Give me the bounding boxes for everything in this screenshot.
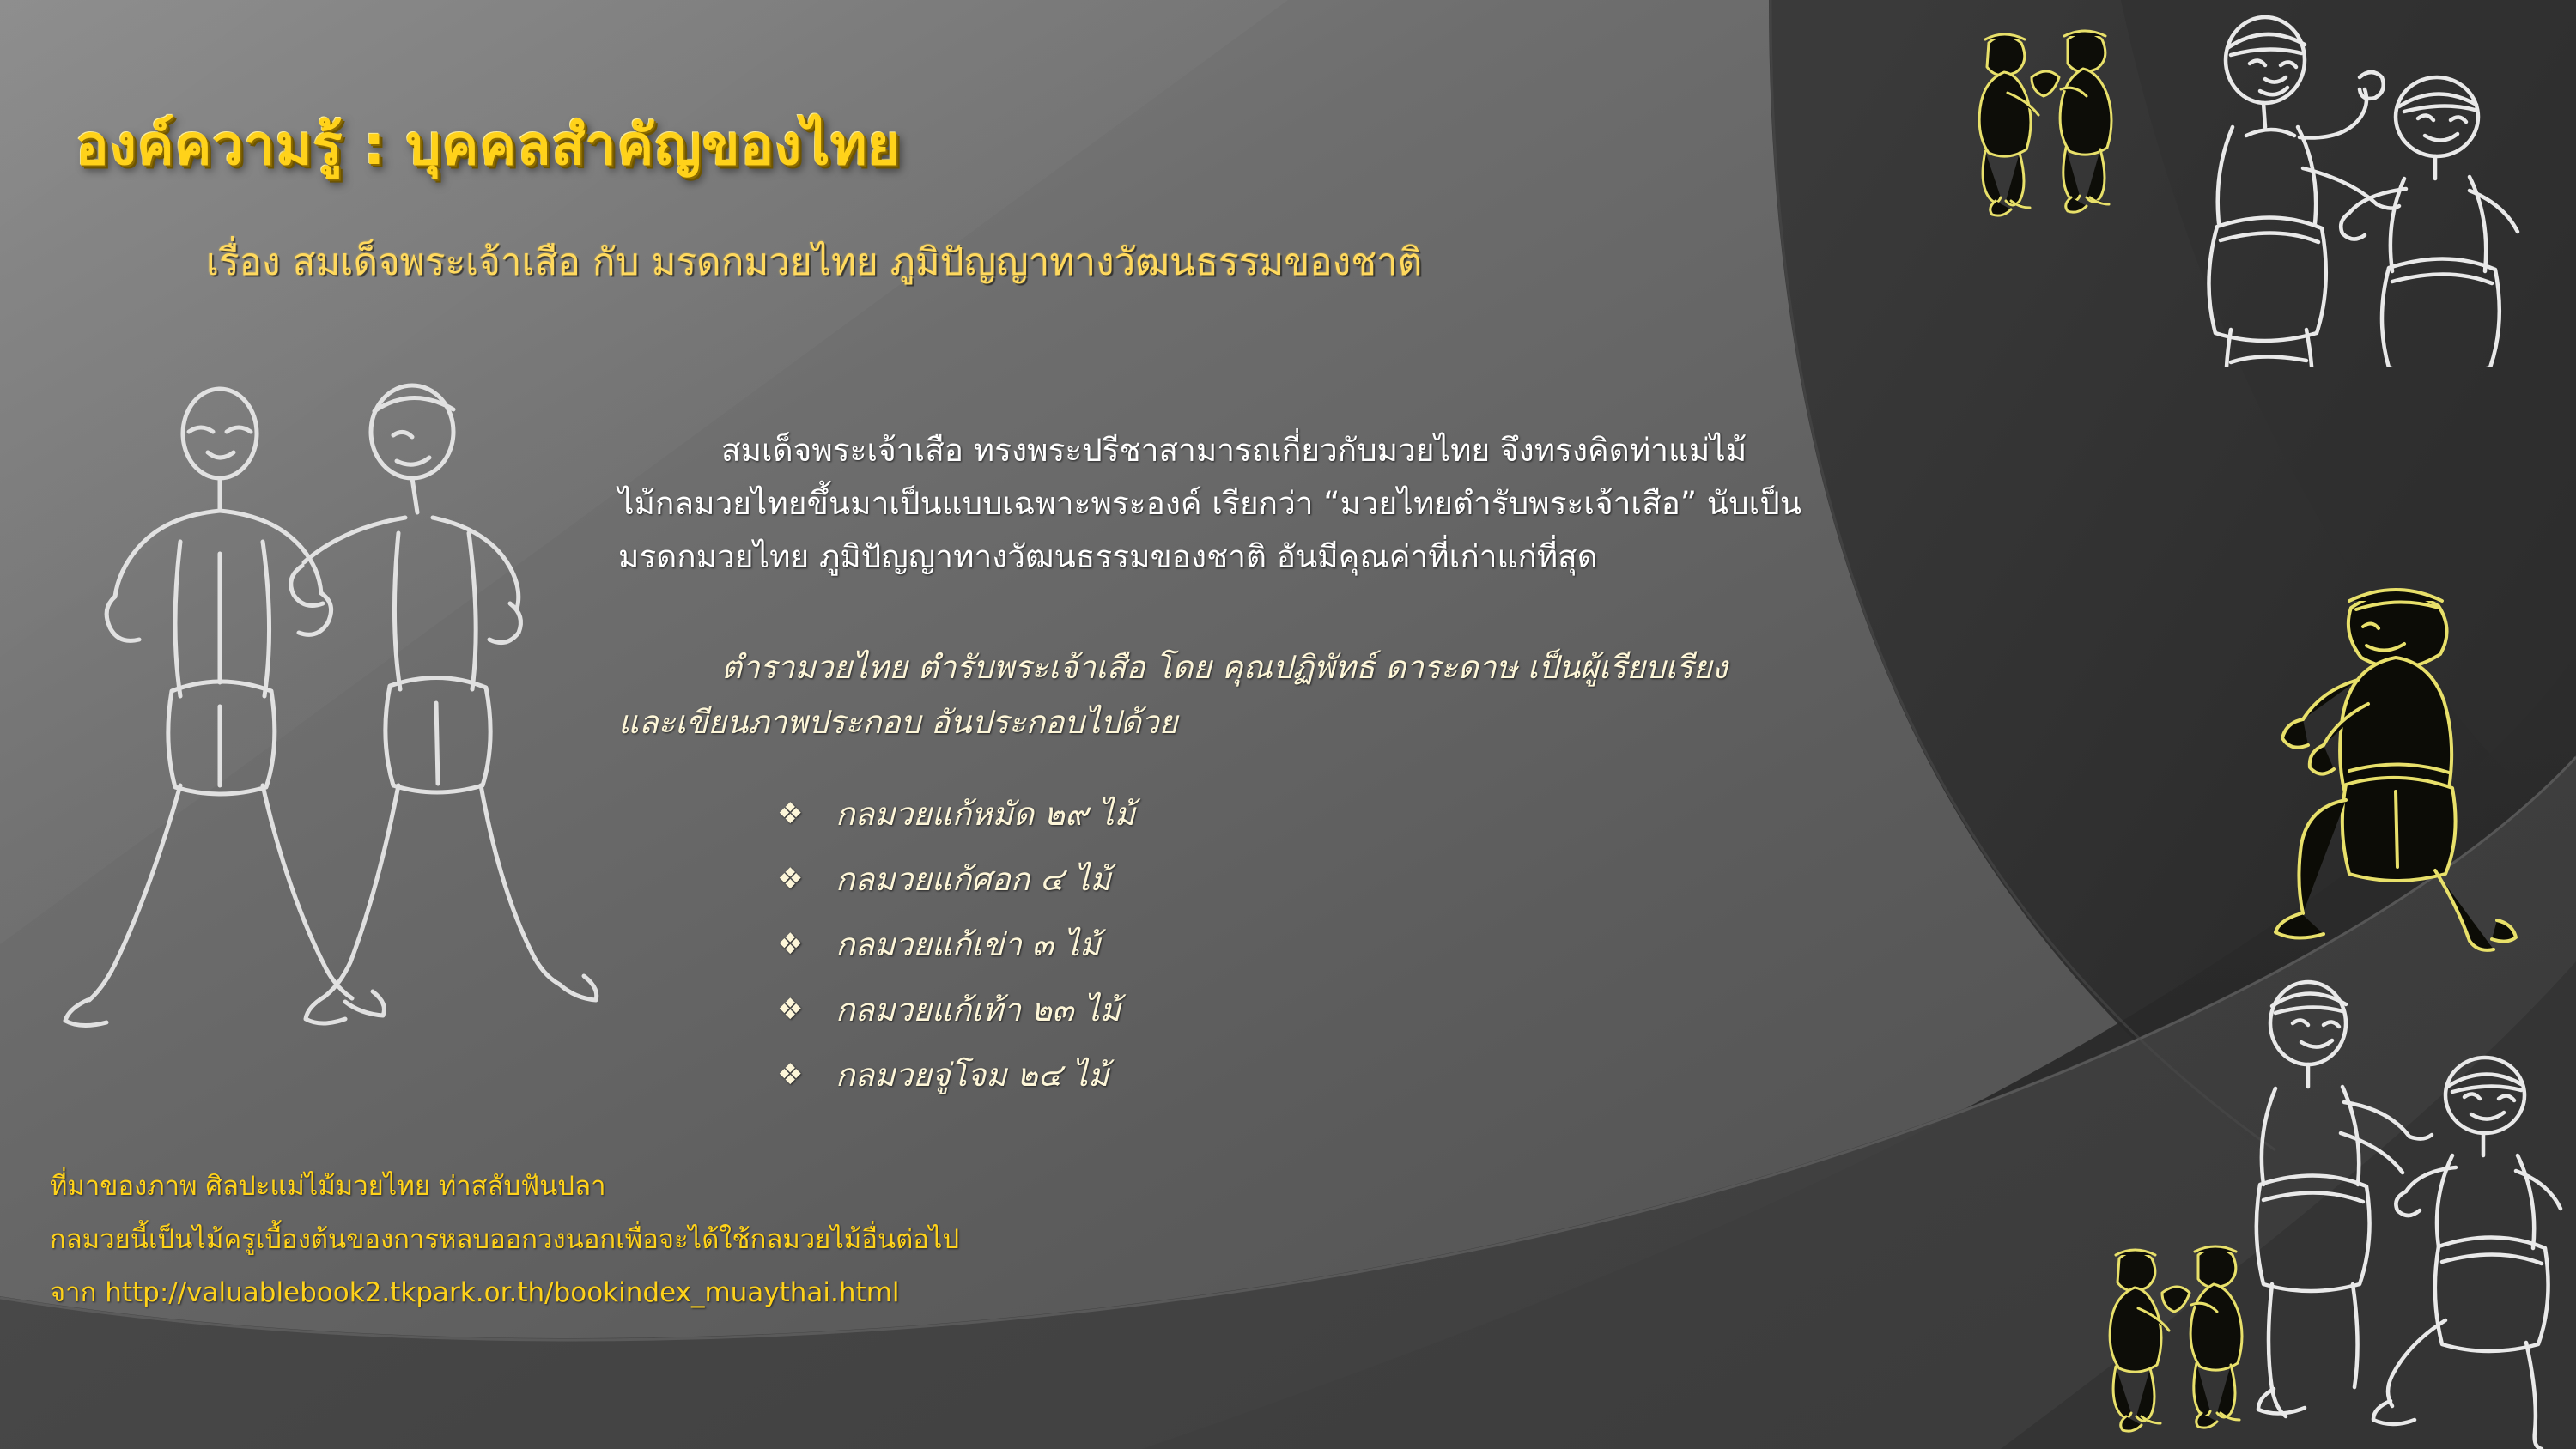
diamond-bullet-icon: ❖ — [777, 995, 835, 1024]
list-item-label: กลมวยจู่โจม ๒๔ ไม้ — [835, 1050, 1109, 1100]
list-item: ❖ กลมวยแก้เท้า ๒๓ ไม้ — [777, 977, 1135, 1042]
list-item: ❖ กลมวยแก้เข่า ๓ ไม้ — [777, 912, 1135, 977]
book-credit-paragraph: ตำรามวยไทย ตำรับพระเจ้าเสือ โดย คุณปฏิพั… — [618, 642, 2078, 752]
source-url-prefix: จาก — [50, 1277, 105, 1308]
list-item: ❖ กลมวยจู่โจม ๒๔ ไม้ — [777, 1042, 1135, 1107]
book-credit-line-1: ตำรามวยไทย ตำรับพระเจ้าเสือ โดย คุณปฏิพั… — [618, 642, 2078, 694]
diamond-bullet-icon: ❖ — [777, 864, 835, 894]
page-subtitle: เรื่อง สมเด็จพระเจ้าเสือ กับ มรดกมวยไทย … — [206, 232, 1422, 292]
list-item-label: กลมวยแก้ศอก ๔ ไม้ — [835, 854, 1111, 905]
list-item-label: กลมวยแก้เข่า ๓ ไม้ — [835, 919, 1101, 970]
body-line-3: มรดกมวยไทย ภูมิปัญญาทางวัฒนธรรมของชาติ อ… — [618, 531, 2078, 583]
page-title: องค์ความรู้ : บุคคลสำคัญของไทย — [76, 101, 901, 189]
source-line-2: กลมวยนี้เป็นไม้ครูเบื้องต้นของการหลบออกว… — [50, 1219, 959, 1260]
source-line-1: ที่มาของภาพ ศิลปะแม่ไม้มวยไทย ท่าสลับฟัน… — [50, 1166, 959, 1207]
diamond-bullet-icon: ❖ — [777, 799, 835, 828]
book-credit-line-2: และเขียนภาพประกอบ อันประกอบไปด้วย — [618, 697, 2078, 749]
diamond-bullet-icon: ❖ — [777, 930, 835, 959]
body-paragraph: สมเด็จพระเจ้าเสือ ทรงพระปรีชาสามารถเกี่ย… — [618, 425, 2078, 585]
diamond-bullet-icon: ❖ — [777, 1060, 835, 1089]
body-line-2: ไม้กลมวยไทยขึ้นมาเป็นแบบเฉพาะพระองค์ เรี… — [618, 478, 2078, 530]
list-item-label: กลมวยแก้หมัด ๒๙ ไม้ — [835, 789, 1135, 840]
slide-canvas: องค์ความรู้ : บุคคลสำคัญของไทย เรื่อง สม… — [0, 0, 2576, 1449]
list-item: ❖ กลมวยแก้ศอก ๔ ไม้ — [777, 846, 1135, 912]
source-credit-block: ที่มาของภาพ ศิลปะแม่ไม้มวยไทย ท่าสลับฟัน… — [50, 1166, 959, 1325]
technique-list: ❖ กลมวยแก้หมัด ๒๙ ไม้ ❖ กลมวยแก้ศอก ๔ ไม… — [777, 781, 1135, 1107]
list-item: ❖ กลมวยแก้หมัด ๒๙ ไม้ — [777, 781, 1135, 846]
source-url-line[interactable]: จาก http://valuablebook2.tkpark.or.th/bo… — [50, 1272, 959, 1313]
list-item-label: กลมวยแก้เท้า ๒๓ ไม้ — [835, 985, 1121, 1035]
body-line-1: สมเด็จพระเจ้าเสือ ทรงพระปรีชาสามารถเกี่ย… — [618, 425, 2078, 476]
source-url-link[interactable]: http://valuablebook2.tkpark.or.th/bookin… — [105, 1277, 899, 1308]
